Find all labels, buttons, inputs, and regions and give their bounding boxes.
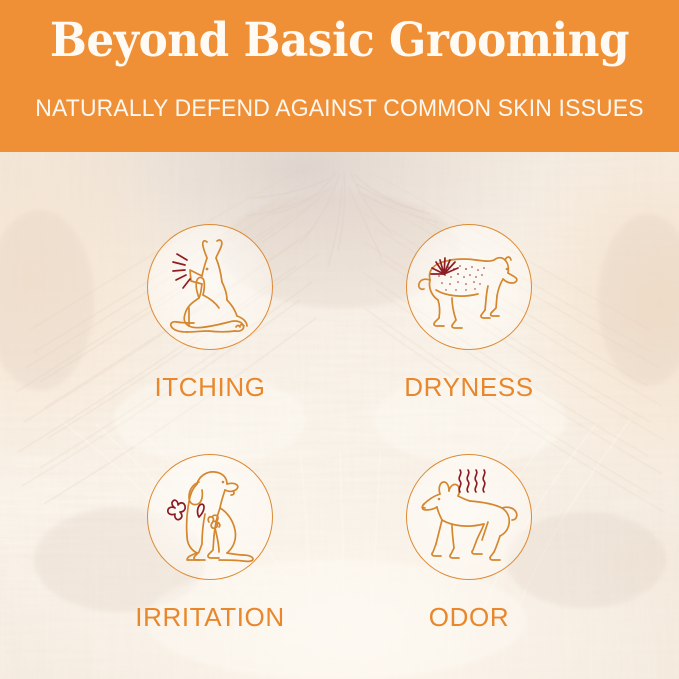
page-title: Beyond Basic Grooming xyxy=(24,16,655,65)
header-banner: Beyond Basic Grooming NATURALLY DEFEND A… xyxy=(0,0,679,152)
benefit-label-odor: ODOR xyxy=(359,602,579,633)
benefit-item-dryness: DRYNESS xyxy=(359,224,579,403)
benefit-label-irritation: IRRITATION xyxy=(100,602,320,633)
benefit-item-odor: ODOR xyxy=(359,454,579,633)
benefit-icon-circle-odor xyxy=(406,454,532,580)
benefit-icon-circle-irritation xyxy=(147,454,273,580)
dog-irritated-patch-icon xyxy=(147,454,273,580)
product-infographic: Beyond Basic Grooming NATURALLY DEFEND A… xyxy=(0,0,679,679)
page-subtitle: NATURALLY DEFEND AGAINST COMMON SKIN ISS… xyxy=(22,95,657,123)
benefit-item-itching: ITCHING xyxy=(100,224,320,403)
benefit-item-irritation: IRRITATION xyxy=(100,454,320,633)
dog-scratching-ear-icon xyxy=(147,224,273,350)
benefits-grid: ITCHING xyxy=(0,152,679,679)
benefit-icon-circle-dryness xyxy=(406,224,532,350)
benefit-label-itching: ITCHING xyxy=(100,372,320,403)
dog-dry-flaky-skin-icon xyxy=(406,224,532,350)
benefit-icon-circle-itching xyxy=(147,224,273,350)
benefit-label-dryness: DRYNESS xyxy=(359,372,579,403)
dog-odor-waves-icon xyxy=(406,454,532,580)
